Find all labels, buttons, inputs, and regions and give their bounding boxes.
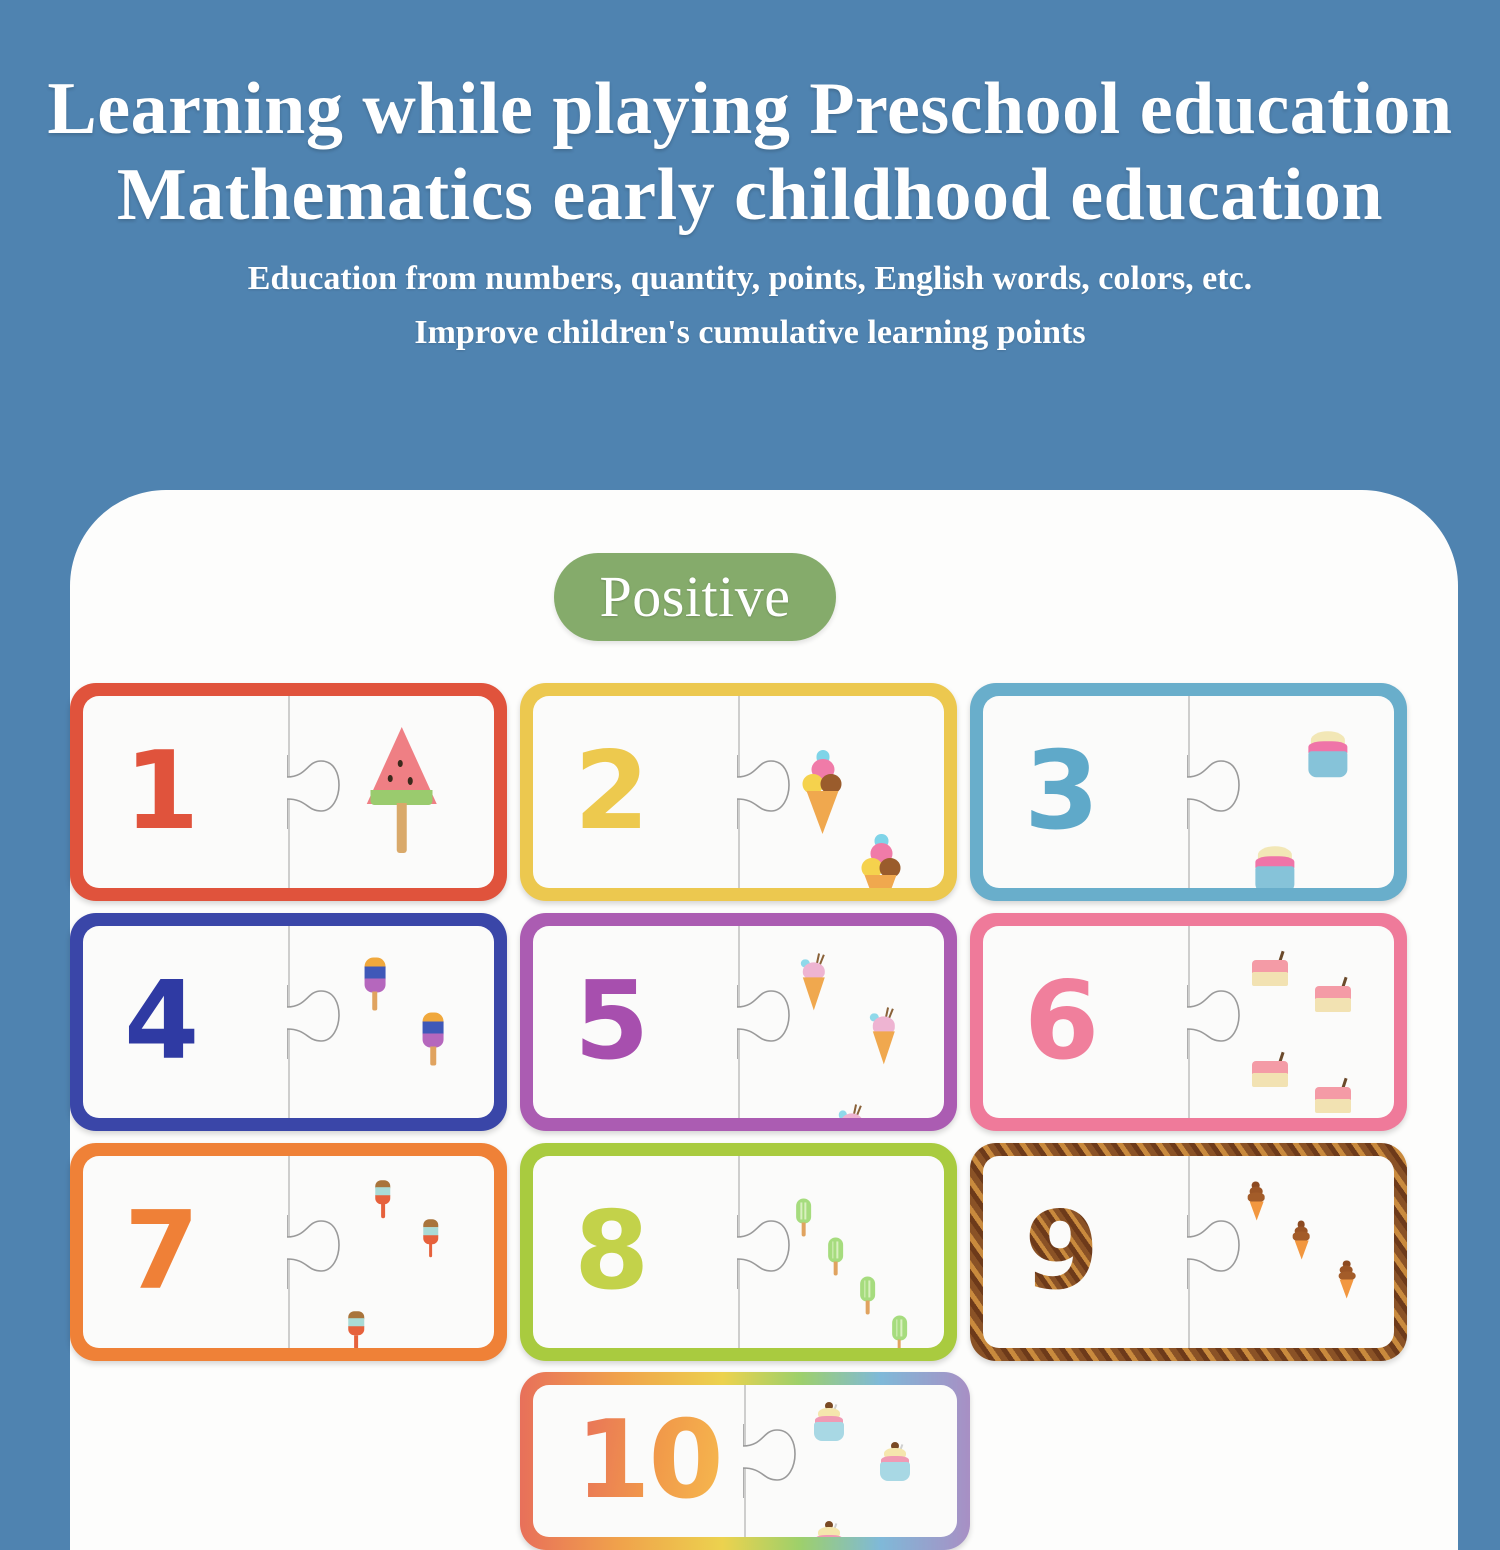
card-number: 2	[574, 738, 647, 846]
card-face: 6	[983, 926, 1394, 1118]
sundae-cup-icon	[879, 1442, 911, 1482]
subheadline-line-2: Improve children's cumulative learning p…	[0, 306, 1500, 360]
puzzle-seam	[738, 1156, 740, 1348]
puzzle-seam	[1188, 1156, 1190, 1348]
sundae-cup-icon	[813, 1521, 845, 1537]
number-half[interactable]: 6	[983, 926, 1209, 1118]
quantity-half[interactable]	[309, 1156, 494, 1348]
green-popsicle-icon	[860, 1277, 875, 1316]
card-number: 5	[574, 968, 647, 1076]
cake-slice-icon	[1252, 1061, 1288, 1087]
number-half[interactable]: 2	[533, 696, 759, 888]
card-number: 6	[1024, 968, 1097, 1076]
puzzle-seam	[1188, 926, 1190, 1118]
cake-slice-icon	[1315, 986, 1351, 1012]
card-face: 4	[83, 926, 494, 1118]
puzzle-seam	[1188, 696, 1190, 888]
icon-cluster	[1235, 945, 1368, 1099]
number-half[interactable]: 10	[533, 1385, 766, 1537]
icon-cluster	[785, 1175, 918, 1329]
icon-cluster	[793, 1400, 930, 1522]
cupcake-icon	[1254, 846, 1297, 888]
puzzle-seam	[288, 926, 290, 1118]
card-number: 7	[124, 1198, 197, 1306]
cake-slice-icon	[1315, 1087, 1351, 1113]
quantity-half[interactable]	[1209, 1156, 1394, 1348]
icon-cluster	[785, 945, 918, 1099]
watermelon-popsicle-icon	[365, 727, 438, 857]
puzzle-card-8[interactable]: 8	[520, 1143, 957, 1361]
card-number: 3	[1024, 738, 1097, 846]
card-face: 7	[83, 1156, 494, 1348]
card-face: 3	[983, 696, 1394, 888]
cake-slice-icon	[1252, 960, 1288, 986]
puzzle-card-7[interactable]: 7	[70, 1143, 507, 1361]
puzzle-card-9[interactable]: 9	[970, 1143, 1407, 1361]
puzzle-card-1[interactable]: 1	[70, 683, 507, 901]
quantity-half[interactable]	[1209, 926, 1394, 1118]
sundae-cup-icon	[813, 1402, 845, 1442]
mint-popsicle-icon	[348, 1311, 364, 1348]
cupcake-icon	[1307, 731, 1350, 779]
icon-cluster	[1235, 1175, 1368, 1329]
mint-popsicle-icon	[423, 1220, 439, 1260]
puzzle-seam	[738, 696, 740, 888]
green-popsicle-icon	[796, 1199, 811, 1238]
quantity-half[interactable]	[759, 696, 944, 888]
card-face: 9	[983, 1156, 1394, 1348]
layered-popsicle-icon	[422, 1013, 444, 1068]
icon-cluster	[1235, 715, 1368, 869]
swirl-cone-icon	[838, 1105, 864, 1118]
puzzle-card-6[interactable]: 6	[970, 913, 1407, 1131]
chocolate-cone-icon	[1247, 1182, 1266, 1221]
quantity-half[interactable]	[759, 1156, 944, 1348]
number-half[interactable]: 3	[983, 696, 1209, 888]
card-face: 5	[533, 926, 944, 1118]
quantity-half[interactable]	[1209, 696, 1394, 888]
number-half[interactable]: 8	[533, 1156, 759, 1348]
puzzle-seam	[288, 1156, 290, 1348]
number-half[interactable]: 4	[83, 926, 309, 1118]
icon-cluster	[335, 715, 468, 869]
subheadline-line-1: Education from numbers, quantity, points…	[0, 238, 1500, 306]
quantity-half[interactable]	[309, 926, 494, 1118]
card-number: 9	[1024, 1198, 1097, 1306]
number-half[interactable]: 1	[83, 696, 309, 888]
ice-cream-cone-icon	[803, 750, 842, 834]
chocolate-cone-icon	[1292, 1221, 1311, 1260]
puzzle-seam	[738, 926, 740, 1118]
icon-cluster	[335, 1175, 468, 1329]
ice-cream-cone-icon	[861, 834, 900, 888]
card-number: 8	[574, 1198, 647, 1306]
quantity-half[interactable]	[309, 696, 494, 888]
card-face: 2	[533, 696, 944, 888]
promo-header: Learning while playing Preschool educati…	[0, 0, 1500, 420]
headline-line-1: Learning while playing Preschool educati…	[0, 0, 1500, 152]
card-number: 1	[124, 738, 197, 846]
icon-cluster	[335, 945, 468, 1099]
card-number: 10	[575, 1407, 721, 1515]
quantity-half[interactable]	[766, 1385, 957, 1537]
swirl-cone-icon	[870, 1008, 896, 1065]
puzzle-card-3[interactable]: 3	[970, 683, 1407, 901]
swirl-cone-icon	[801, 953, 827, 1010]
card-face: 8	[533, 1156, 944, 1348]
puzzle-card-10[interactable]: 10	[520, 1372, 970, 1550]
number-half[interactable]: 5	[533, 926, 759, 1118]
number-half[interactable]: 7	[83, 1156, 309, 1348]
puzzle-card-grid: 12345678910	[70, 490, 1458, 1550]
puzzle-seam	[744, 1385, 746, 1537]
product-photo-panel: Positive 12345678910	[70, 490, 1458, 1550]
layered-popsicle-icon	[364, 958, 386, 1013]
puzzle-card-2[interactable]: 2	[520, 683, 957, 901]
card-face: 10	[533, 1385, 957, 1537]
icon-cluster	[785, 715, 918, 869]
puzzle-card-4[interactable]: 4	[70, 913, 507, 1131]
number-half[interactable]: 9	[983, 1156, 1209, 1348]
card-face: 1	[83, 696, 494, 888]
green-popsicle-icon	[892, 1316, 907, 1348]
mint-popsicle-icon	[375, 1180, 391, 1220]
headline-line-2: Mathematics early childhood education	[0, 152, 1500, 238]
chocolate-cone-icon	[1337, 1260, 1356, 1299]
green-popsicle-icon	[828, 1238, 843, 1277]
quantity-half[interactable]	[759, 926, 944, 1118]
card-number: 4	[124, 968, 197, 1076]
puzzle-seam	[288, 696, 290, 888]
puzzle-card-5[interactable]: 5	[520, 913, 957, 1131]
